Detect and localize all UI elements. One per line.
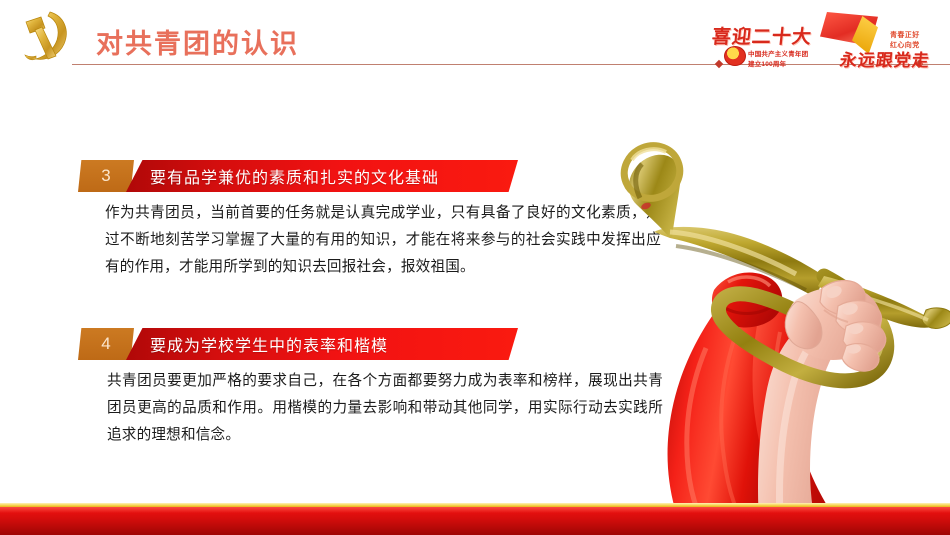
section-3-title-bar: 要有品学兼优的素质和扎实的文化基础 [126,160,518,192]
section-3-number-badge: 3 [78,160,134,192]
section-4-body-text: 共青团员要更加严格的要求自己，在各个方面都要努力成为表率和榜样，展现出共青团员更… [107,368,663,449]
hand-holding-bugle-with-red-ribbon-illustration [610,120,950,535]
section-3-body-text: 作为共青团员，当前首要的任务就是认真完成学业，只有具备了良好的文化素质，通过不断… [105,200,661,281]
section-4-title-bar: 要成为学校学生中的表率和楷模 [126,328,518,360]
section-3-title-text: 要有品学兼优的素质和扎实的文化基础 [150,160,439,192]
youth-league-seal-icon [724,46,746,66]
badge-small-slogan-1: 青春正好 [890,30,920,40]
badge-org-line-1: 中国共产主义青年团 [748,48,808,58]
badge-small-slogan-2: 红心向党 [890,40,920,50]
party-hammer-sickle-emblem-icon [14,8,76,66]
section-4-title-text: 要成为学校学生中的表率和楷模 [150,328,388,360]
section-4-number-badge: 4 [78,328,134,360]
slide-canvas: 对共青团的认识 喜迎二十大 永远跟党走 中国共产主义青年团 建立100周年 青春… [0,0,950,535]
slide-header: 对共青团的认识 喜迎二十大 永远跟党走 中国共产主义青年团 建立100周年 青春… [0,0,950,90]
anniversary-badge: 喜迎二十大 永远跟党走 中国共产主义青年团 建立100周年 青春正好 红心向党 [712,10,942,72]
badge-org-line-2: 建立100周年 [748,58,786,68]
page-title: 对共青团的认识 [96,22,299,61]
footer-red-sheen [0,507,950,513]
badge-slogan-primary: 喜迎二十大 [711,22,814,49]
